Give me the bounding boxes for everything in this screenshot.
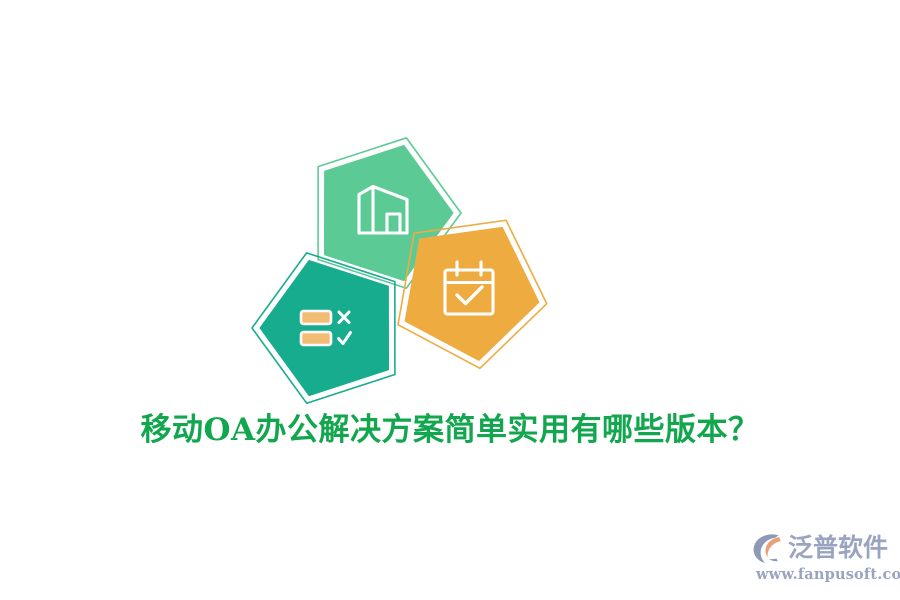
page-title: 移动OA办公解决方案简单实用有哪些版本？ xyxy=(0,408,900,452)
brand-url: www.fanpusoft.com xyxy=(756,566,888,584)
brand-name: 泛普软件 xyxy=(788,533,888,563)
brand-watermark: 泛普软件 www.fanpusoft.com xyxy=(756,530,888,588)
brand-row: 泛普软件 xyxy=(756,530,888,566)
fanpu-logo-mark-icon xyxy=(752,532,786,564)
pentagon-illustration xyxy=(245,130,565,415)
page-root: 移动OA办公解决方案简单实用有哪些版本？ 泛普软件 www.fanpusoft.… xyxy=(0,0,900,600)
